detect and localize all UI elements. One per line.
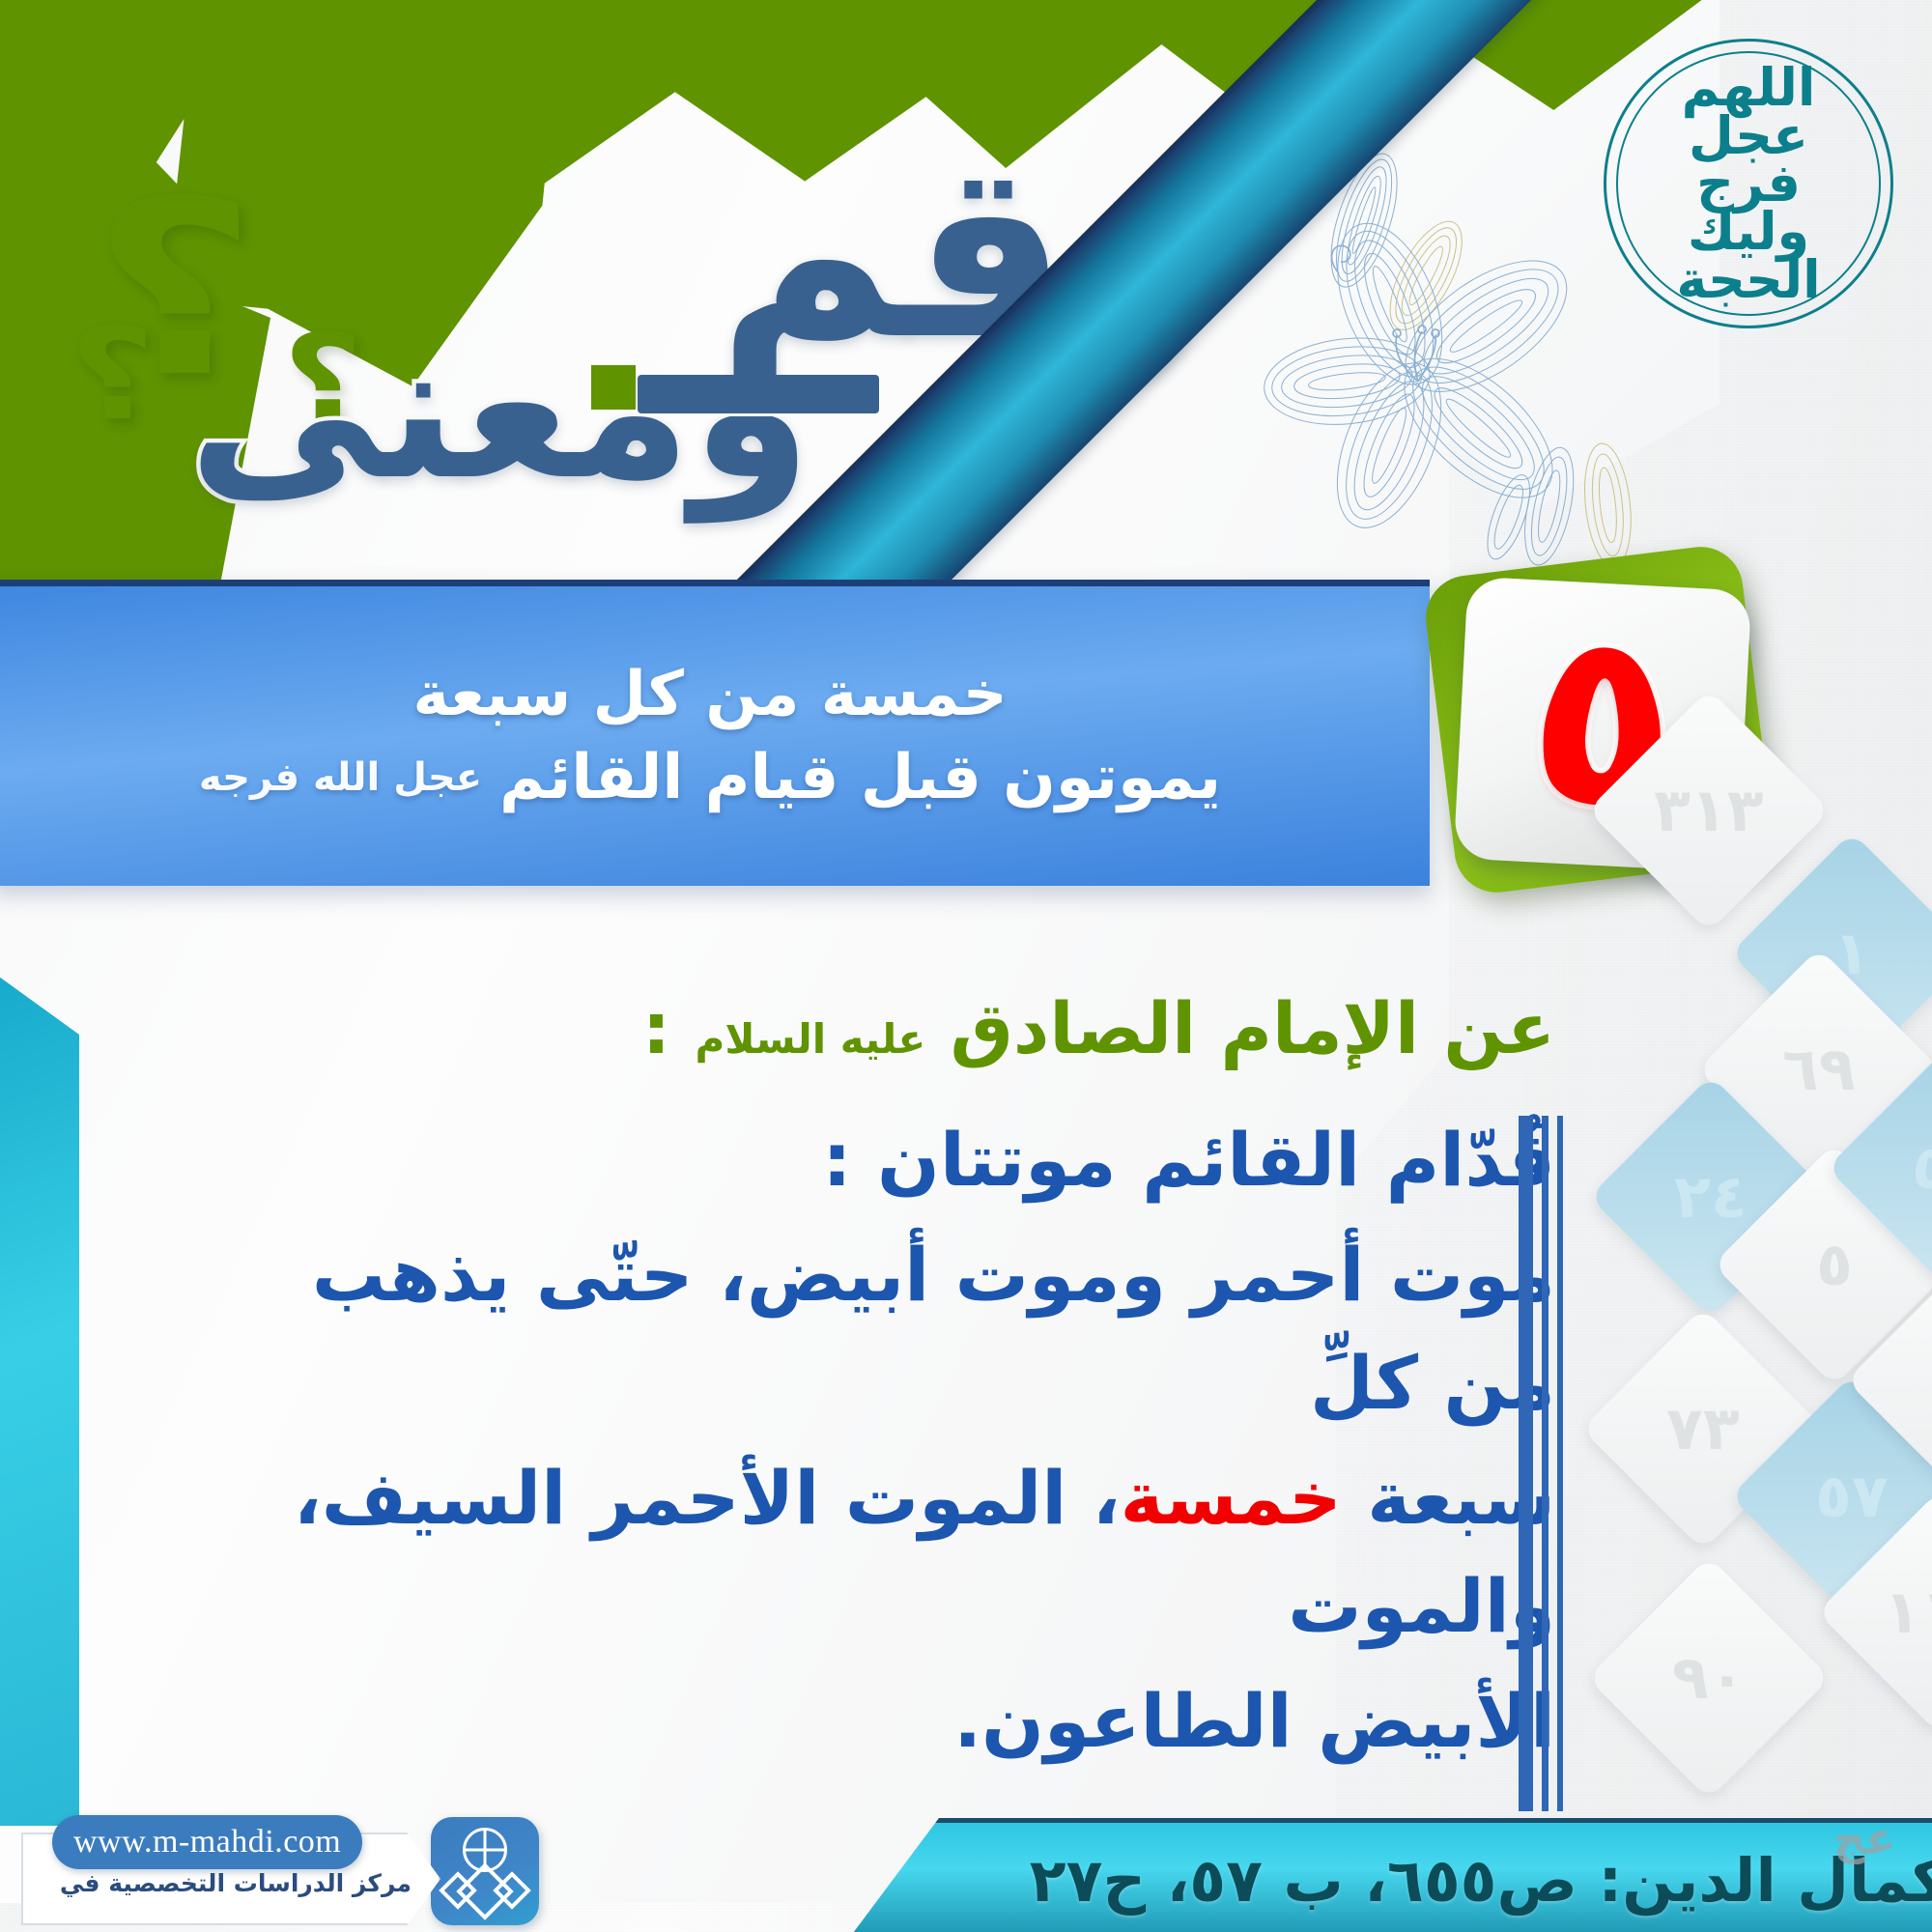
hadith-line-1: قُدّام القائم موتتان : xyxy=(97,1106,1555,1214)
site-logo[interactable]: www.m-mahdi.com مركز الدراسات التخصصية ف… xyxy=(17,1814,539,1928)
hadith-line-4: الأبيض الطاعون. xyxy=(97,1667,1555,1776)
hadith-block: عن الإمام الصادق عليه السلام : قُدّام ال… xyxy=(97,985,1555,1781)
logo-body: www.m-mahdi.com مركز الدراسات التخصصية ف… xyxy=(21,1817,437,1925)
vertical-rule-group xyxy=(1519,1116,1563,1811)
attribution-honorific: عليه السلام xyxy=(696,1015,926,1063)
numeral-tile-label: ٧٣ xyxy=(1666,1399,1740,1459)
citation-bar: كمال الدين: ص٦٥٥، ب ٥٧، ح٢٧ xyxy=(850,1818,1932,1932)
mini-calligraphy-mark: عج xyxy=(1833,1812,1896,1864)
numeral-tile-label: ٦٩ xyxy=(1782,1039,1856,1099)
attribution-colon: : xyxy=(642,988,670,1070)
numeral-tile-label: ٢٤ xyxy=(1674,1167,1747,1227)
numeral-tile: ٩٠ xyxy=(1587,1556,1831,1800)
calligraphy-seal: اللهم عجل فرج وليك الحجة xyxy=(1604,39,1893,328)
attribution-text: عن الإمام الصادق xyxy=(951,988,1555,1070)
center-name: مركز الدراسات التخصصية في الإمام المهدي xyxy=(54,1869,412,1897)
numeral-tile-label: ١١٥ xyxy=(1884,1582,1932,1642)
title-accent-square xyxy=(591,365,636,410)
website-url[interactable]: www.m-mahdi.com xyxy=(52,1815,362,1869)
banner-line-two: يموتون قبل قيام القائم عجل الله فرجه xyxy=(199,742,1221,813)
numeral-tile-label: ٥١ xyxy=(1912,1138,1932,1198)
honorific-mark: عجل الله فرجه xyxy=(199,755,482,800)
numeral-tile-label: ٥٧ xyxy=(1815,1466,1889,1526)
logo-emblem-icon xyxy=(431,1817,539,1925)
hadith-line-3: سبعة خمسة، الموت الأحمر السيف، والموت xyxy=(97,1444,1555,1662)
hadith-line-2: موت أحمر وموت أبيض، حتّى يذهب من كلِّ xyxy=(97,1221,1555,1438)
numeral-tile-grid: ٣١٣ ١ ٦٩ ٢٤ ٥ ٥١ ٧٣ ٥٧ ٥١ ١١٥ ٩٠ xyxy=(1604,792,1932,1845)
poster-canvas: ؟ ؟ ؟ رقم ومعنى xyxy=(0,0,1932,1932)
numeral-tile-label: ٩٠ xyxy=(1672,1648,1746,1708)
left-accent-strip xyxy=(0,956,79,1826)
hadith-attribution: عن الإمام الصادق عليه السلام : xyxy=(97,985,1555,1073)
numeral-tile-label: ٣١٣ xyxy=(1654,781,1764,840)
title-underline-bar xyxy=(638,375,879,413)
headline-banner: خمسة من كل سبعة يموتون قبل قيام القائم ع… xyxy=(0,580,1430,886)
hadith-highlight-word: خمسة xyxy=(1121,1455,1342,1541)
banner-line-one: خمسة من كل سبعة xyxy=(412,659,1007,730)
numeral-tile-label: ٥ xyxy=(1816,1235,1853,1294)
seal-text: اللهم عجل فرج وليك الحجة xyxy=(1629,64,1868,303)
citation-text: كمال الدين: ص٦٥٥، ب ٥٧، ح٢٧ xyxy=(1030,1845,1932,1916)
banner-line-two-text: يموتون قبل قيام القائم xyxy=(499,742,1221,813)
